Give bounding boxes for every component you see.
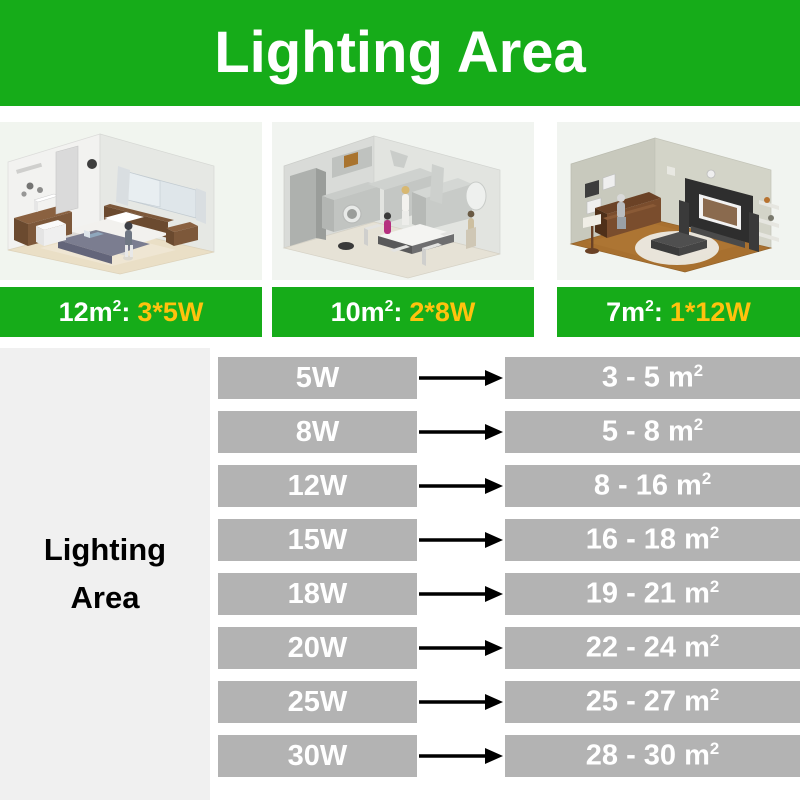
- area-value-text: 5 - 8 m: [602, 416, 694, 448]
- arrow-right-icon: [417, 519, 505, 561]
- area-cell: 3 - 5 m2: [505, 357, 800, 399]
- isometric-bedroom-illustration: [0, 122, 262, 280]
- area-value-text: 19 - 21 m: [586, 578, 710, 610]
- area-unit-superscript: 2: [702, 469, 711, 488]
- power-value: 5W: [296, 364, 340, 393]
- area-cell: 25 - 27 m2: [505, 681, 800, 723]
- area-unit-superscript: 2: [694, 415, 703, 434]
- area-cell: 16 - 18 m2: [505, 519, 800, 561]
- area-value: 19 - 21 m2: [586, 579, 720, 609]
- room-label-kitchen: 10m2: 2*8W: [272, 287, 534, 337]
- area-cell: 22 - 24 m2: [505, 627, 800, 669]
- room-watt-label-0: 3*5W: [137, 299, 203, 326]
- power-value: 15W: [288, 526, 348, 555]
- power-value: 20W: [288, 634, 348, 663]
- isometric-living-room-illustration: [557, 122, 800, 280]
- power-value: 12W: [288, 472, 348, 501]
- table-row: 25W25 - 27 m2: [210, 681, 800, 723]
- power-value: 18W: [288, 580, 348, 609]
- room-area-label-2: 7m2:: [606, 299, 663, 326]
- area-cell: 8 - 16 m2: [505, 465, 800, 507]
- room-label-living-room: 7m2: 1*12W: [557, 287, 800, 337]
- table-row: 20W22 - 24 m2: [210, 627, 800, 669]
- table-row: 12W8 - 16 m2: [210, 465, 800, 507]
- area-value: 3 - 5 m2: [602, 363, 703, 393]
- room-examples-row: 12m2: 3*5W: [0, 122, 800, 337]
- area-cell: 5 - 8 m2: [505, 411, 800, 453]
- area-unit-superscript: 2: [694, 361, 703, 380]
- power-cell: 8W: [218, 411, 417, 453]
- area-value-text: 25 - 27 m: [586, 686, 710, 718]
- table-row-header: Lighting Area: [0, 348, 210, 800]
- power-cell: 15W: [218, 519, 417, 561]
- area-unit-superscript: 2: [710, 523, 719, 542]
- area-value-text: 16 - 18 m: [586, 524, 710, 556]
- table-row: 18W19 - 21 m2: [210, 573, 800, 615]
- power-cell: 5W: [218, 357, 417, 399]
- area-value-text: 28 - 30 m: [586, 740, 710, 772]
- table-row: 5W3 - 5 m2: [210, 357, 800, 399]
- area-unit-superscript: 2: [710, 739, 719, 758]
- arrow-right-icon: [417, 411, 505, 453]
- table-row: 8W5 - 8 m2: [210, 411, 800, 453]
- area-unit-superscript: 2: [710, 631, 719, 650]
- room-card-bedroom: 12m2: 3*5W: [0, 122, 262, 337]
- table-rows: 5W3 - 5 m28W5 - 8 m212W8 - 16 m215W16 - …: [210, 348, 800, 800]
- arrow-right-icon: [417, 735, 505, 777]
- arrow-right-icon: [417, 573, 505, 615]
- power-cell: 12W: [218, 465, 417, 507]
- area-value-text: 3 - 5 m: [602, 362, 694, 394]
- arrow-right-icon: [417, 357, 505, 399]
- area-unit-superscript: 2: [710, 577, 719, 596]
- area-value: 28 - 30 m2: [586, 741, 720, 771]
- room-watt-label-2: 1*12W: [670, 299, 751, 326]
- power-cell: 20W: [218, 627, 417, 669]
- arrow-right-icon: [417, 465, 505, 507]
- power-value: 30W: [288, 742, 348, 771]
- table-row-header-line2: Area: [71, 577, 140, 619]
- page-title: Lighting Area: [214, 24, 586, 82]
- isometric-kitchen-dining-illustration: [272, 122, 534, 280]
- room-label-bedroom: 12m2: 3*5W: [0, 287, 262, 337]
- area-value: 16 - 18 m2: [586, 525, 720, 555]
- table-row: 30W28 - 30 m2: [210, 735, 800, 777]
- room-area-label-0: 12m2:: [59, 299, 131, 326]
- room-watt-label-1: 2*8W: [409, 299, 475, 326]
- area-cell: 19 - 21 m2: [505, 573, 800, 615]
- arrow-right-icon: [417, 627, 505, 669]
- area-value: 8 - 16 m2: [594, 471, 711, 501]
- power-cell: 25W: [218, 681, 417, 723]
- room-card-kitchen: 10m2: 2*8W: [272, 122, 534, 337]
- room-area-label-1: 10m2:: [331, 299, 403, 326]
- room-card-living-room: 7m2: 1*12W: [557, 122, 800, 337]
- area-value: 22 - 24 m2: [586, 633, 720, 663]
- area-value-text: 8 - 16 m: [594, 470, 702, 502]
- table-row: 15W16 - 18 m2: [210, 519, 800, 561]
- power-cell: 30W: [218, 735, 417, 777]
- area-cell: 28 - 30 m2: [505, 735, 800, 777]
- lighting-area-table: Lighting Area 5W3 - 5 m28W5 - 8 m212W8 -…: [0, 348, 800, 800]
- power-value: 25W: [288, 688, 348, 717]
- area-unit-superscript: 2: [710, 685, 719, 704]
- arrow-right-icon: [417, 681, 505, 723]
- table-row-header-line1: Lighting: [44, 529, 166, 571]
- area-value-text: 22 - 24 m: [586, 632, 710, 664]
- power-value: 8W: [296, 418, 340, 447]
- header-banner: Lighting Area: [0, 0, 800, 106]
- area-value: 5 - 8 m2: [602, 417, 703, 447]
- power-cell: 18W: [218, 573, 417, 615]
- area-value: 25 - 27 m2: [586, 687, 720, 717]
